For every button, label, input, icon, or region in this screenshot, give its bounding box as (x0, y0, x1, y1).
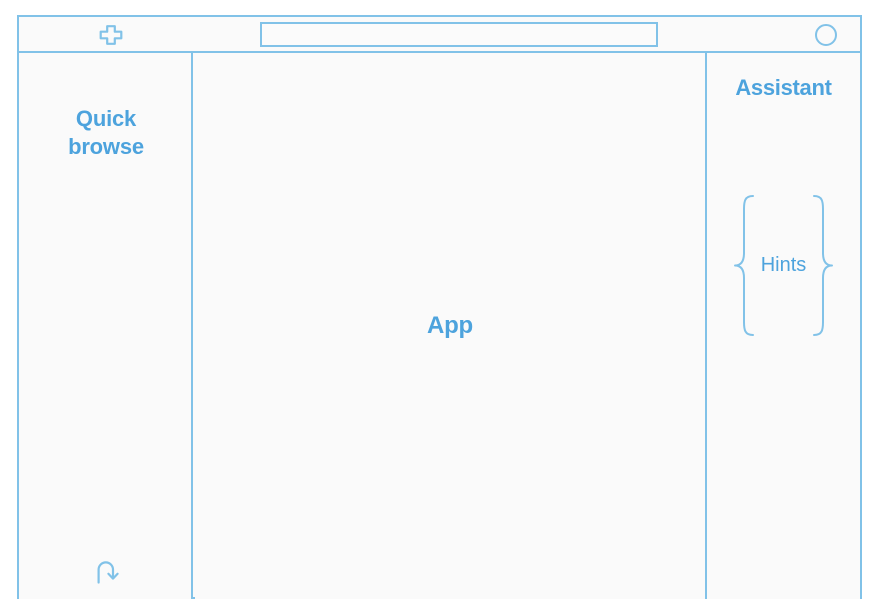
main-body: Quick browse App Assistant Hints (19, 53, 860, 599)
left-curly-brace-icon (733, 193, 759, 338)
sidebar-title: Quick browse (19, 105, 193, 161)
assistant-panel: Assistant Hints (705, 53, 860, 599)
right-curly-brace-icon (808, 193, 834, 338)
app-canvas[interactable]: App (195, 53, 705, 599)
address-input[interactable] (260, 22, 658, 47)
wireframe-window: Quick browse App Assistant Hints (17, 15, 862, 599)
sidebar-title-line-1: Quick (19, 105, 193, 133)
hints-block: Hints (707, 193, 860, 338)
app-label: App (195, 53, 705, 599)
sidebar-title-line-2: browse (19, 133, 193, 161)
hints-label: Hints (759, 254, 809, 277)
browser-top-bar (19, 17, 860, 53)
circle-avatar-icon[interactable] (815, 24, 837, 46)
plus-icon[interactable] (98, 24, 124, 46)
quick-browse-sidebar: Quick browse (19, 53, 193, 599)
u-turn-arrow-icon[interactable] (91, 557, 123, 587)
assistant-title: Assistant (707, 75, 860, 101)
